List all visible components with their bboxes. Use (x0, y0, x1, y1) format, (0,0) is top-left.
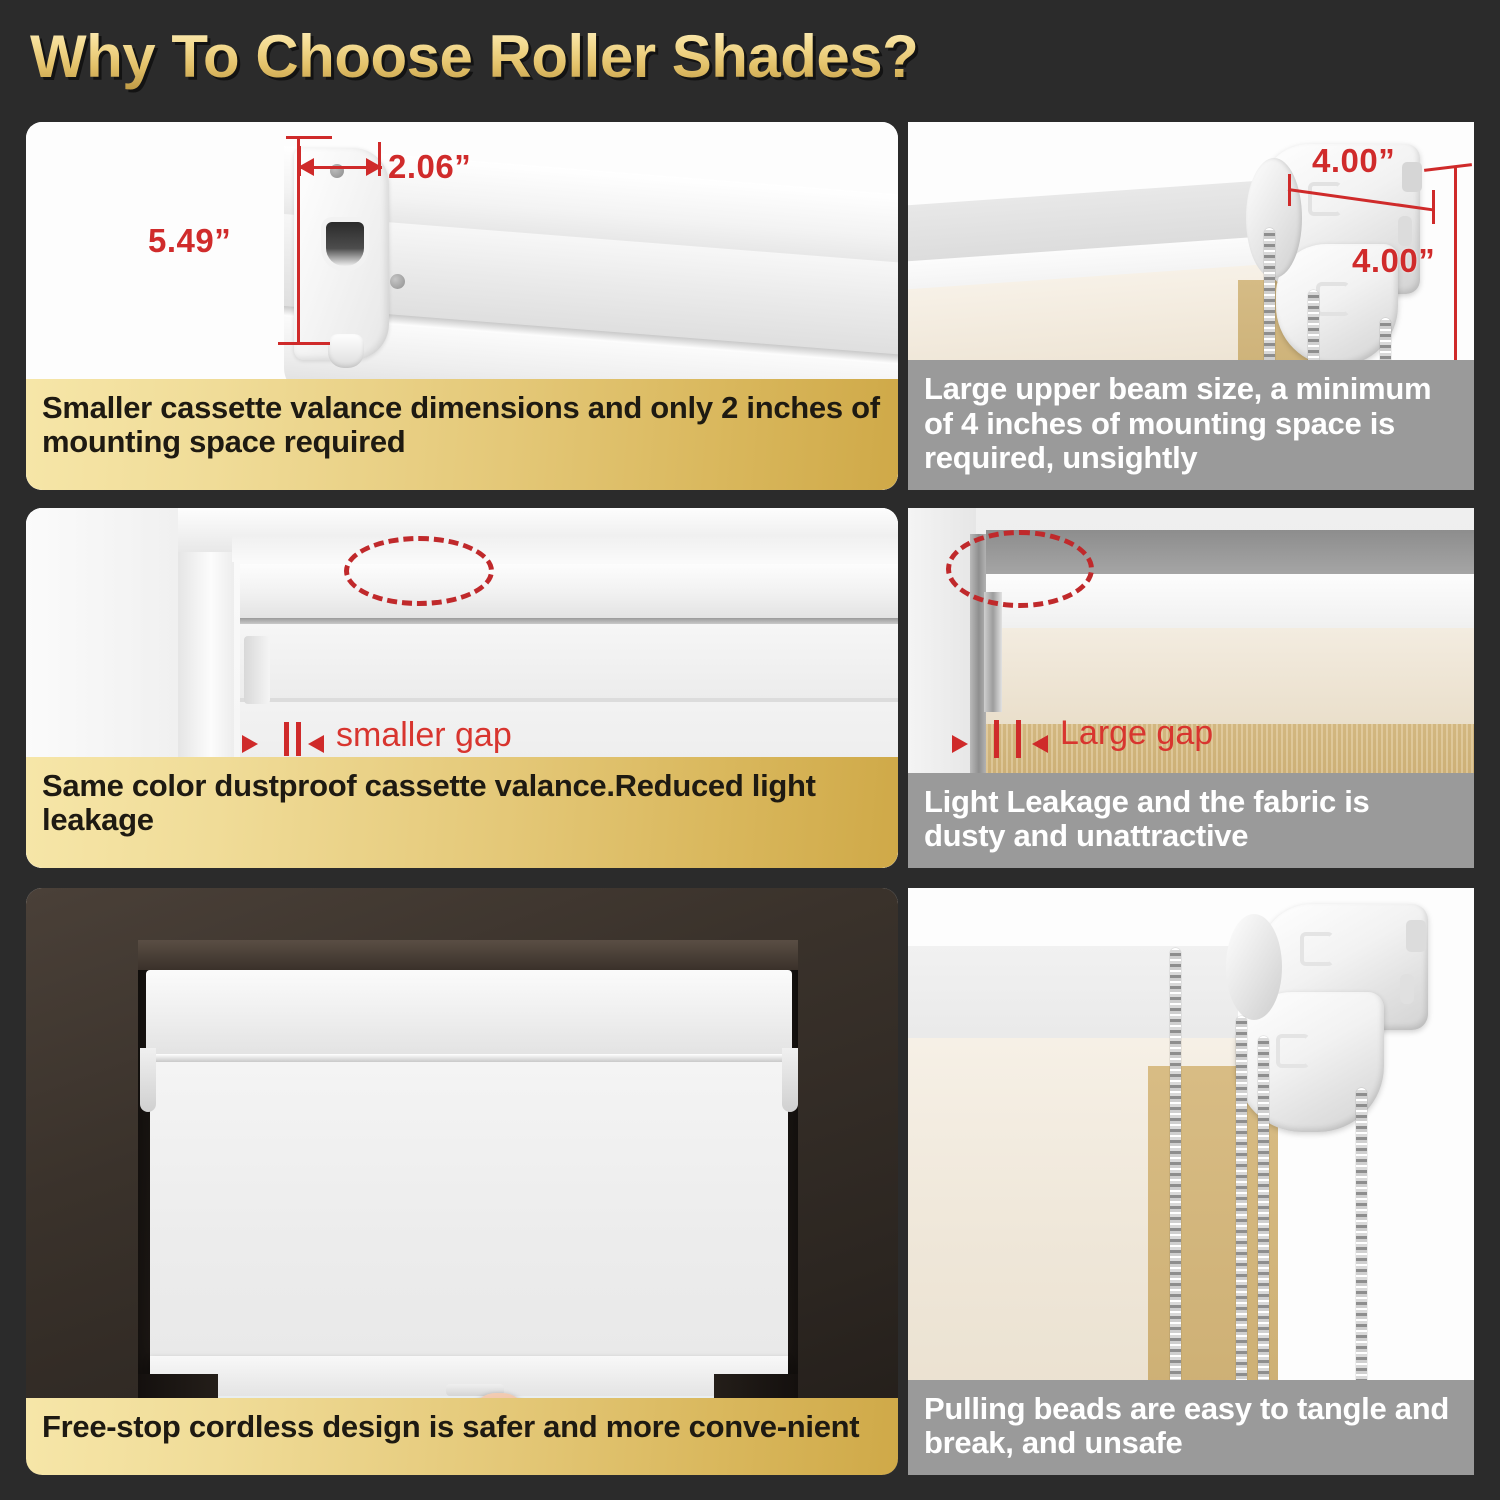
large-gap-marker-b (1016, 720, 1021, 758)
dim-height-tick-bottom (278, 342, 330, 345)
dim-width-arrow-left (298, 158, 314, 176)
large-gap-arrow-left (952, 735, 968, 753)
shade-fabric-upper (240, 624, 898, 700)
end-cap-bottom-knob (328, 334, 364, 368)
internal-roller-edge (244, 636, 270, 704)
panel-large-beam: 4.00” 4.00” Large upper beam size, a min… (908, 122, 1474, 490)
panel-pulling-beads: Pulling beads are easy to tangle and bre… (908, 888, 1474, 1475)
dim-width-label: 2.06” (388, 148, 471, 186)
gap-arrow-left (242, 735, 258, 753)
bracket-slot-upper (1402, 162, 1422, 192)
valance-right-end (782, 1048, 798, 1112)
panel-6-caption: Pulling beads are easy to tangle and bre… (908, 1380, 1474, 1475)
panel-5-caption: Free-stop cordless design is safer and m… (26, 1398, 898, 1475)
gap-marker-a (284, 722, 289, 756)
bead-bracket-logo-lower-icon (1276, 1034, 1310, 1068)
panel-3-caption: Same color dustproof cassette valance.Re… (26, 757, 898, 868)
dim2-width-label: 4.00” (1312, 142, 1395, 180)
end-cap-clutch-slot (326, 222, 364, 266)
smaller-gap-label: smaller gap (336, 716, 512, 755)
bead-bracket-slot-a (1406, 920, 1426, 952)
large-gap-label: Large gap (1060, 714, 1213, 753)
dim2-height-label: 4.00” (1352, 242, 1435, 280)
window-header-shadow (138, 940, 798, 970)
infographic-root: Why To Choose Roller Shades? Why To Choo… (0, 0, 1500, 1500)
bead-bracket-logo-upper-icon (1300, 932, 1334, 966)
large-gap-marker-a (994, 720, 999, 758)
panel-dustproof-valance: smaller gap Same color dustproof cassett… (26, 508, 898, 868)
dim2-width-tick-left (1288, 174, 1291, 206)
panel-4-caption: Light Leakage and the fabric is dusty an… (908, 773, 1474, 868)
panel-2-caption: Large upper beam size, a minimum of 4 in… (908, 360, 1474, 490)
bead-panel-white-fabric (908, 946, 1238, 1046)
panel-1-caption: Smaller cassette valance dimensions and … (26, 379, 898, 490)
large-gap-highlight-ellipse (946, 530, 1094, 608)
large-gap-arrow-right (1032, 735, 1048, 753)
room-valance-bar (146, 970, 792, 1058)
cassette-valance-bar (240, 564, 898, 618)
fabric-beige-upper (986, 628, 1474, 724)
gap-highlight-ellipse (344, 536, 494, 606)
end-cap-screw-mid (390, 274, 405, 289)
bead-roller-end-disc (1226, 914, 1282, 1020)
dim-height-label: 5.49” (148, 222, 231, 260)
panel-cordless-design: Free-stop cordless design is safer and m… (26, 888, 898, 1475)
bead-bracket-slot-b (1400, 974, 1414, 1004)
dim-width-arrow-right (366, 158, 382, 176)
valance-left-end (140, 1048, 156, 1112)
room-valance-lip (146, 1054, 792, 1062)
dim-height-line (297, 136, 300, 344)
panel-light-leakage: Large gap Light Leakage and the fabric i… (908, 508, 1474, 868)
dim-height-tick-top (286, 136, 332, 139)
window-frame-inner-top (232, 536, 898, 562)
dim2-width-tick-right (1432, 190, 1435, 224)
panel-5-photo (26, 888, 898, 1475)
gap-marker-b (296, 722, 301, 756)
exposed-hardware (984, 592, 1002, 712)
bracket-logo-upper-icon (1308, 182, 1342, 216)
gap-arrow-right (308, 735, 324, 753)
bracket-logo-lower-icon (1316, 282, 1350, 316)
panel-smaller-cassette: 2.06” 5.49” Smaller cassette valance dim… (26, 122, 898, 490)
page-title: Why To Choose Roller Shades? (30, 22, 918, 91)
